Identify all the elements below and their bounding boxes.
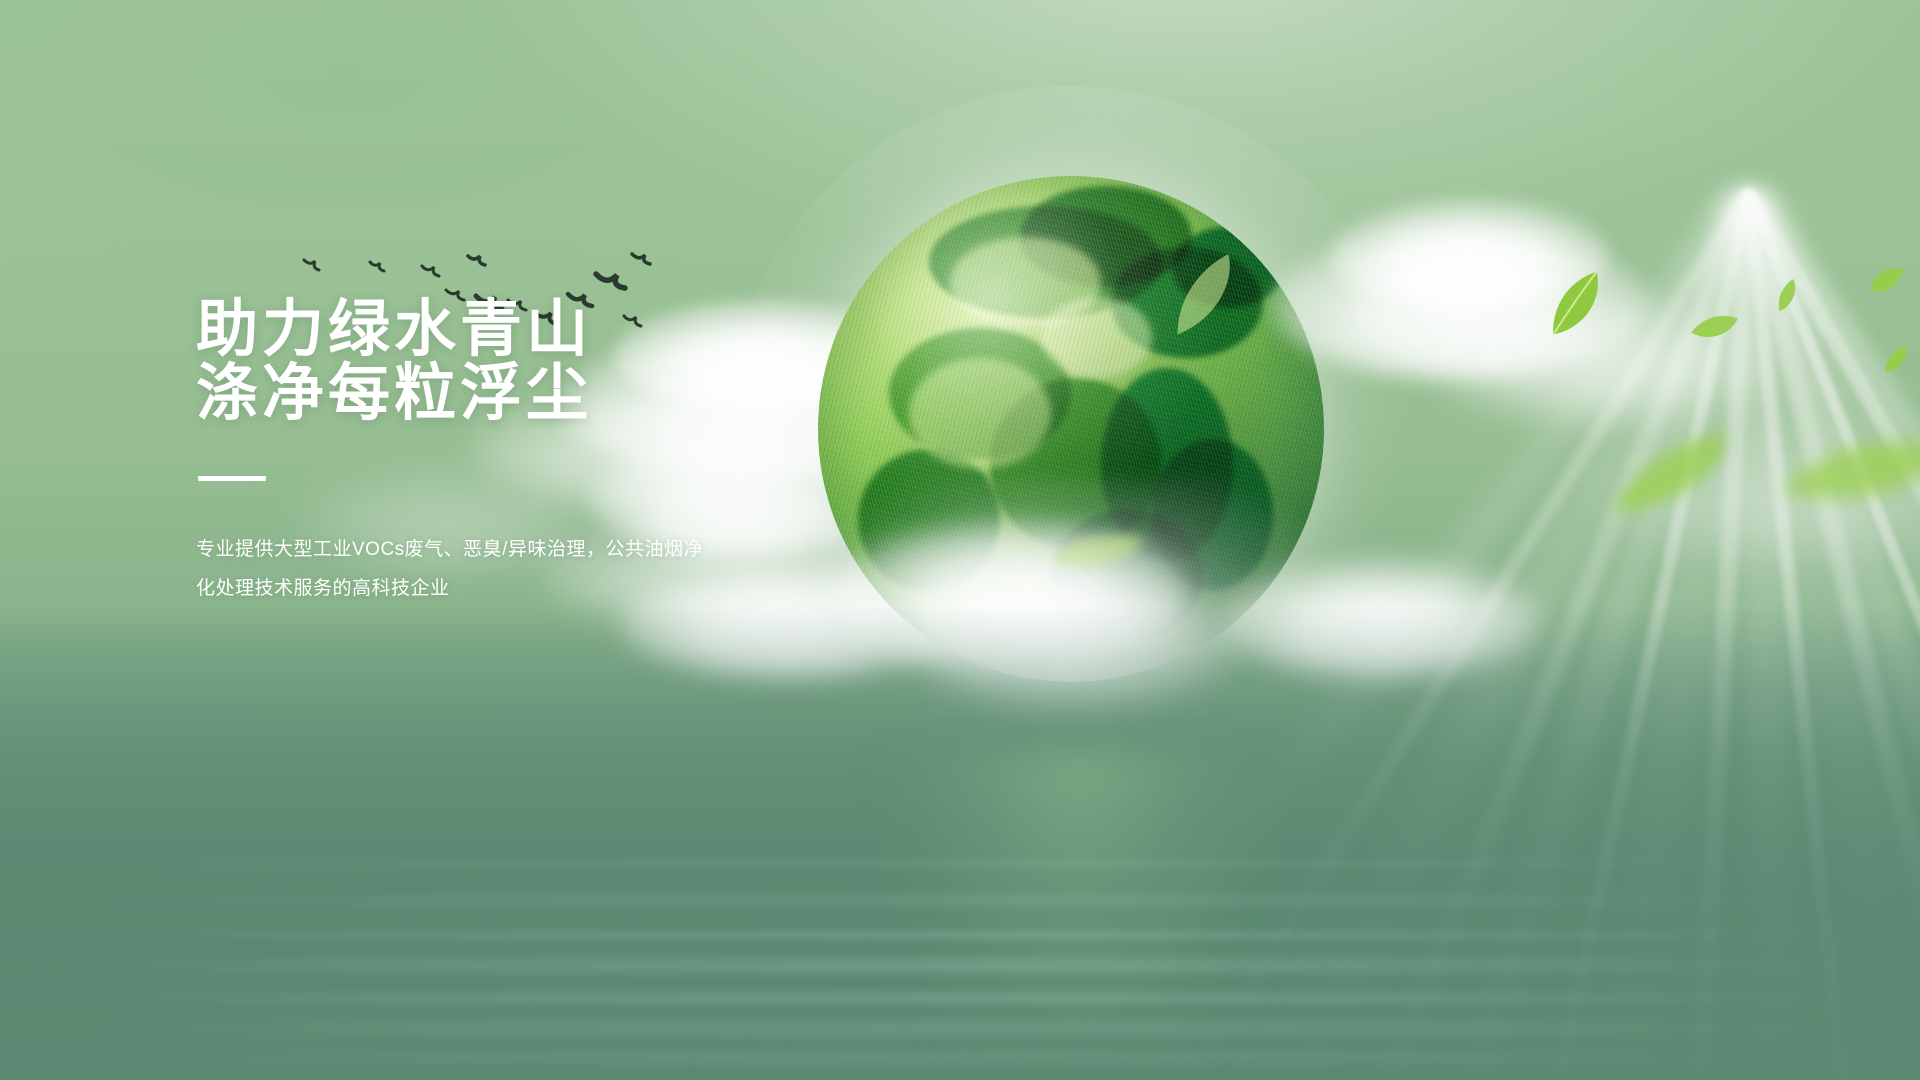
leaf-far-right-mid [1877,344,1915,377]
globe-water-reflection [880,750,1280,1080]
cloud-right-far [1600,440,1920,560]
hero-subtitle: 专业提供大型工业VOCs废气、恶臭/异味治理，公共油烟净 化处理技术服务的高科技… [196,531,736,609]
page-title: 助力绿水青山 涤净每粒浮尘 [196,298,916,426]
leaf-far-right-top [1866,258,1909,305]
leaf-blurred-lower [1594,426,1745,524]
leaf-right-upper [1687,305,1742,350]
water-streak-4 [0,961,1920,970]
title-divider [198,476,266,481]
banner-hero: 助力绿水青山 涤净每粒浮尘 专业提供大型工业VOCs废气、恶臭/异味治理，公共油… [0,0,1920,1080]
water-streak-6 [0,1023,1920,1034]
water-streak-2 [0,897,1920,904]
leaf-right-small [1766,276,1808,315]
headline-line-1: 助力绿水青山 [196,298,916,362]
cloud-right-low [1220,560,1540,680]
subtitle-line-2: 化处理技术服务的高科技企业 [196,570,736,609]
leaf-globe-overlap-b [1046,518,1149,584]
sunlight-rays [998,0,1920,940]
water-surface [0,605,1920,1080]
leaf-globe-overlap-a [1150,249,1258,343]
subtitle-line-1: 专业提供大型工业VOCs废气、恶臭/异味治理，公共油烟净 [196,531,736,570]
water-streak-5 [0,994,1920,1002]
leaf-blurred-right [1775,417,1920,526]
cloud-right-main [1270,230,1650,380]
water-streak-3 [0,932,1920,938]
cloud-right-upper [1330,200,1610,310]
cloud-globe-front-2 [900,580,1240,710]
water-streak-1 [0,861,1920,866]
cloud-right-tail [1430,300,1770,420]
water-streak-7 [0,1053,1920,1062]
hero-copy-block: 助力绿水青山 涤净每粒浮尘 专业提供大型工业VOCs废气、恶臭/异味治理，公共油… [196,298,916,609]
headline-line-2: 涤净每粒浮尘 [196,362,916,426]
leaf-top-right [1532,267,1620,346]
